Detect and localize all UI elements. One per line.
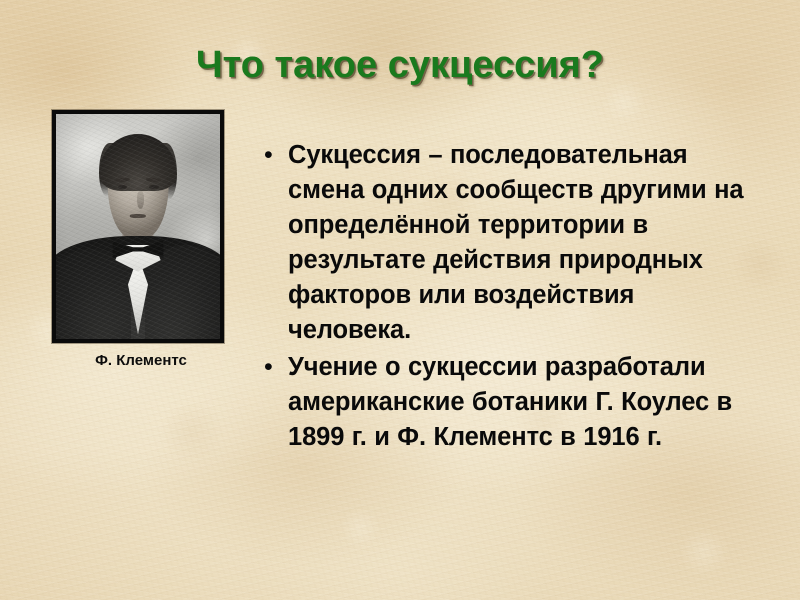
presentation-slide: Что такое сукцессия? Ф. Клементс — [0, 0, 800, 600]
bullet-item: • Сукцессия – последовательная смена одн… — [264, 138, 750, 348]
bullet-item: • Учение о сукцессии разработали америка… — [264, 350, 750, 455]
portrait-caption: Ф. Клементс — [36, 352, 246, 369]
bullet-marker-icon: • — [264, 138, 288, 173]
portrait-photo-image — [56, 114, 220, 339]
bullet-text: Учение о сукцессии разработали американс… — [288, 350, 750, 455]
bullet-marker-icon: • — [264, 350, 288, 385]
slide-title: Что такое сукцессия? — [0, 44, 800, 87]
portrait-film-grain — [56, 114, 220, 339]
portrait-photo-frame — [52, 110, 224, 343]
bullet-text: Сукцессия – последовательная смена одних… — [288, 138, 750, 348]
body-bullet-list: • Сукцессия – последовательная смена одн… — [264, 138, 750, 457]
